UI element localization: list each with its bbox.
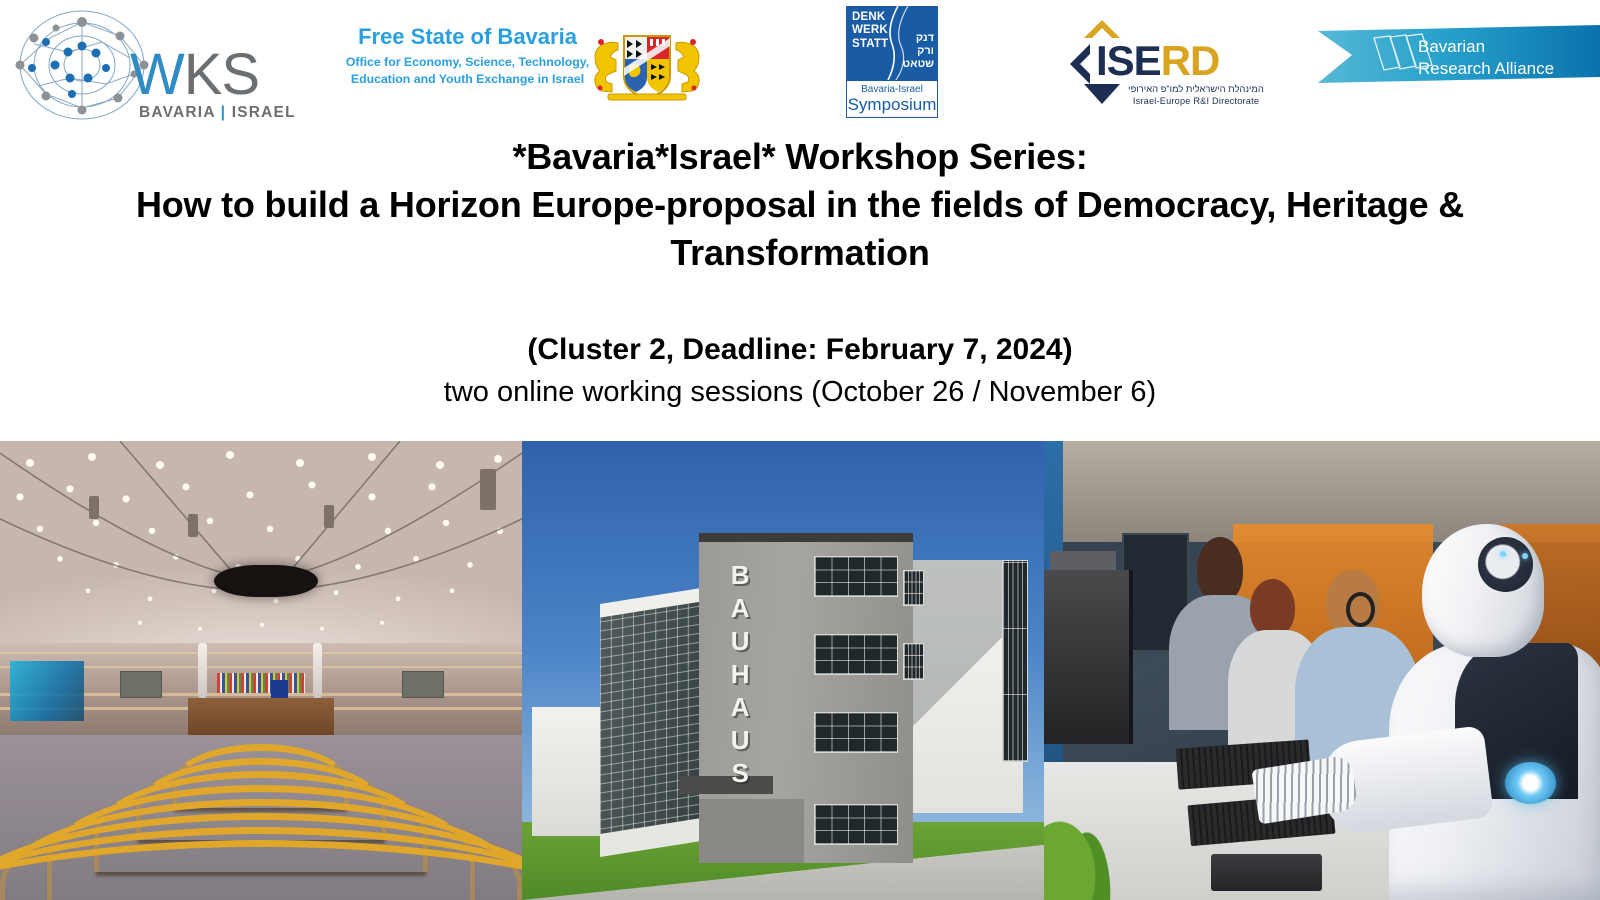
humanoid-robot-head [1422,524,1544,657]
page-title: *Bavaria*Israel* Workshop Series: How to… [60,133,1540,277]
parliament-desk-arcs [0,441,522,900]
parliament-speaker-3 [324,505,334,528]
parliament-speaker-4 [480,469,496,510]
slide-canvas: WKS BAVARIA | ISRAEL Free State of Bavar… [0,0,1600,900]
denkwerkstatt-hebrew-line1: דנק [903,32,935,45]
bavaria-logo-subtitle: Office for Economy, Science, Technology,… [345,54,590,89]
bra-line1: Bavarian [1418,36,1554,58]
headset-icon [1346,592,1375,627]
bauhaus-side-window-2 [903,643,924,680]
bra-wordmark: Bavarian Research Alliance [1418,36,1554,79]
denkwerkstatt-blue-square: DENK WERK STATT דנק ורק שטאט [846,6,938,80]
bavaria-coat-of-arms-icon [588,26,706,104]
bavarian-research-alliance-logo: Bavarian Research Alliance [1318,25,1600,89]
iserd-word-dark: ISE [1096,37,1161,84]
humanoid-robot-shoulder-light [1505,762,1555,803]
denkwerkstatt-english-text: DENK WERK STATT [852,11,888,51]
title-line-2: How to build a Horizon Europe-proposal i… [60,181,1540,229]
wks-letters-ks: KS [184,42,259,107]
free-state-of-bavaria-logo: Free State of Bavaria Office for Economy… [345,24,715,109]
office-plant [1044,781,1122,900]
denkwerkstatt-symposium-box: Bavaria-Israel Symposium [846,80,938,118]
denkwerkstatt-box-line1: Bavaria-Israel [847,84,937,95]
wks-subtitle-right: ISRAEL [232,104,296,121]
title-line-3: Transformation [60,229,1540,277]
subtitle-deadline: (Cluster 2, Deadline: February 7, 2024) [60,328,1540,372]
logo-bar: WKS BAVARIA | ISRAEL Free State of Bavar… [0,0,1600,130]
page-subtitle: (Cluster 2, Deadline: February 7, 2024) … [60,328,1540,412]
bra-line2: Research Alliance [1418,58,1554,80]
wks-letter-w: W [130,42,184,107]
wks-subtitle-separator: | [221,104,227,121]
denkwerkstatt-english-line1: DENK [852,11,888,24]
parliament-speaker-2 [188,514,198,537]
office-monitor-front [1044,570,1133,744]
bavaria-logo-subtitle-line2: Education and Youth Exchange in Israel [345,71,590,88]
photo-band: BAUHAUS [0,441,1600,900]
office-closed-laptop [1211,854,1322,891]
bauhaus-stair-glazing [1002,560,1028,762]
subtitle-sessions: two online working sessions (October 26 … [60,372,1540,412]
bauhaus-window-3 [814,712,898,753]
bauhaus-window-4 [814,804,898,845]
iserd-wordmark: ISERD [1096,40,1219,82]
iserd-word-gold: RD [1161,37,1220,84]
wks-subtitle: BAVARIA | ISRAEL [139,104,296,122]
wks-wordmark: WKS [130,46,259,104]
bavaria-logo-subtitle-line1: Office for Economy, Science, Technology, [345,54,590,71]
bauhaus-sign-text: BAUHAUS [726,560,755,791]
denkwerkstatt-hebrew-text: דנק ורק שטאט [903,32,935,72]
bauhaus-window-1 [814,556,898,597]
bauhaus-window-2 [814,634,898,675]
office-workers-with-humanoid-robot-photo [1044,441,1600,900]
bauhaus-dessau-building-photo: BAUHAUS [522,441,1044,900]
parliament-speaker-1 [89,496,99,519]
bavaria-logo-title: Free State of Bavaria [345,24,590,50]
bauhaus-tower-base [699,799,803,863]
european-parliament-hemicycle-photo [0,441,522,900]
denkwerkstatt-logo: DENK WERK STATT דנק ורק שטאט Bavaria-Isr… [846,6,942,119]
iserd-english-subtitle: Israel-Europe R&I Directorate [1120,96,1272,106]
title-line-1: *Bavaria*Israel* Workshop Series: [60,133,1540,181]
denkwerkstatt-box-line2: Symposium [847,96,937,113]
denkwerkstatt-english-line2: WERK [852,24,888,37]
bauhaus-side-window-1 [903,570,924,607]
denkwerkstatt-hebrew-line2: ורק [903,45,935,58]
denkwerkstatt-english-line3: STATT [852,38,888,51]
bavaria-logo-text: Free State of Bavaria Office for Economy… [345,24,590,89]
iserd-logo: ISERD המינהלת הישראלית למו"פ האירופי Isr… [1068,18,1273,110]
wks-subtitle-left: BAVARIA [139,104,215,121]
wks-logo: WKS BAVARIA | ISRAEL [10,8,255,123]
denkwerkstatt-hebrew-line3: שטאט [903,58,935,71]
iserd-hebrew-subtitle: המינהלת הישראלית למו"פ האירופי [1120,84,1272,95]
